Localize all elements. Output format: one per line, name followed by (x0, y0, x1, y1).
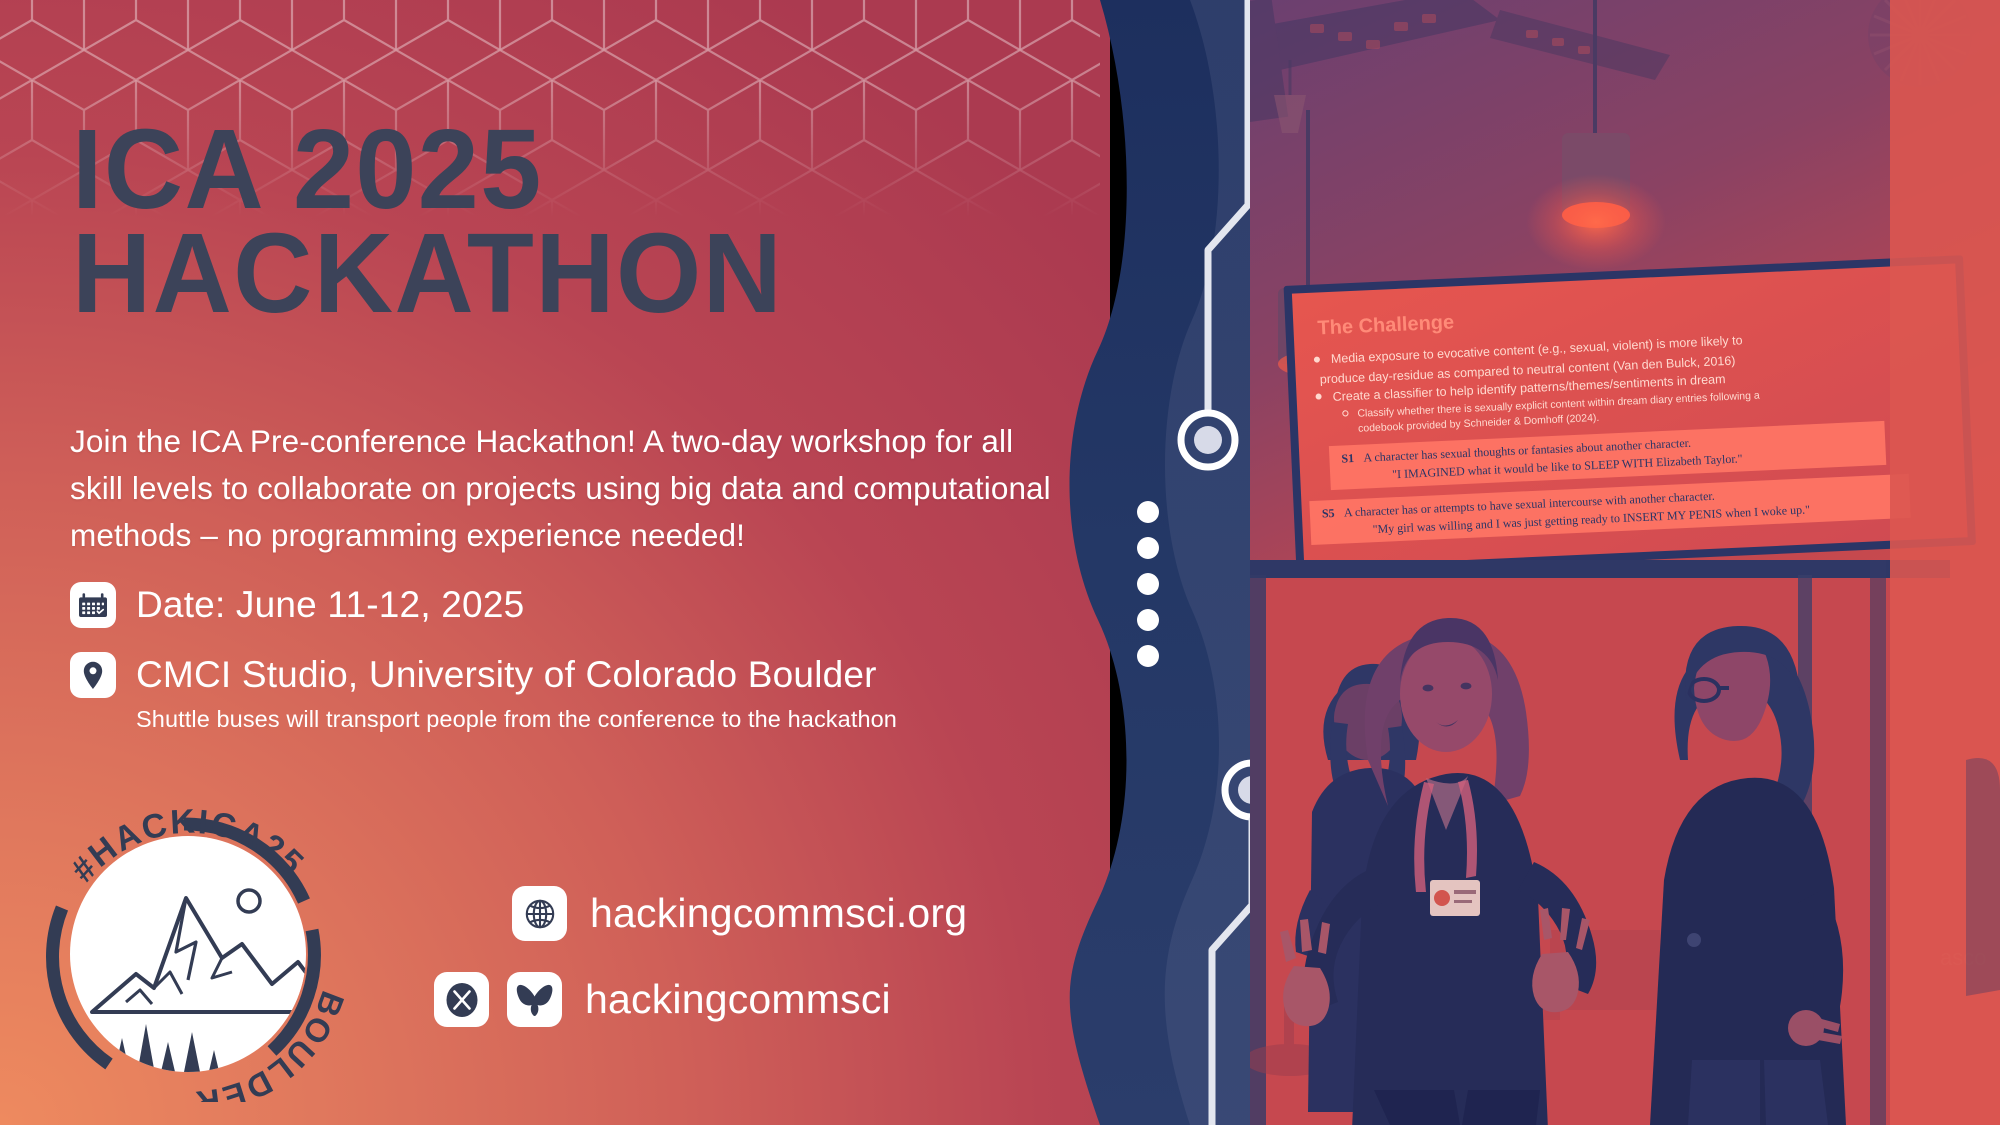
event-date-text: Date: June 11-12, 2025 (136, 584, 524, 626)
social-row[interactable]: hackingcommsci (434, 972, 891, 1027)
headline-line-1: ICA 2025 (72, 118, 1003, 222)
poster-root: ICA 2025 HACKATHON Join the ICA Pre-conf… (0, 0, 2000, 1125)
website-label: hackingcommsci.org (590, 890, 967, 937)
left-content-panel: ICA 2025 HACKATHON Join the ICA Pre-conf… (0, 0, 1110, 1125)
bluesky-butterfly-icon[interactable] (507, 972, 562, 1027)
svg-text:S5: S5 (1322, 506, 1335, 521)
map-pin-icon (70, 652, 116, 698)
hackica25-badge-logo: #HACKICA25 BOULDER (36, 802, 346, 1102)
globe-icon (512, 886, 567, 941)
event-photo: The Challenge Media exposure to evocativ… (1250, 0, 2000, 1125)
svg-text:S1: S1 (1341, 451, 1354, 466)
website-row[interactable]: hackingcommsci.org (512, 886, 967, 941)
right-edge-figure (1966, 758, 2000, 996)
x-twitter-icon[interactable] (434, 972, 489, 1027)
event-date-row: Date: June 11-12, 2025 (70, 582, 524, 628)
event-location-row: CMCI Studio, University of Colorado Boul… (70, 652, 877, 698)
projection-screen: The Challenge Media exposure to evocativ… (1284, 255, 1976, 576)
social-handle: hackingcommsci (585, 976, 891, 1023)
event-location-text: CMCI Studio, University of Colorado Boul… (136, 654, 877, 696)
headline-line-2: HACKATHON (72, 222, 1003, 326)
intro-paragraph: Join the ICA Pre-conference Hackathon! A… (70, 418, 1070, 559)
calendar-icon (70, 582, 116, 628)
shuttle-note: Shuttle buses will transport people from… (136, 706, 897, 733)
page-title: ICA 2025 HACKATHON (72, 118, 1003, 326)
